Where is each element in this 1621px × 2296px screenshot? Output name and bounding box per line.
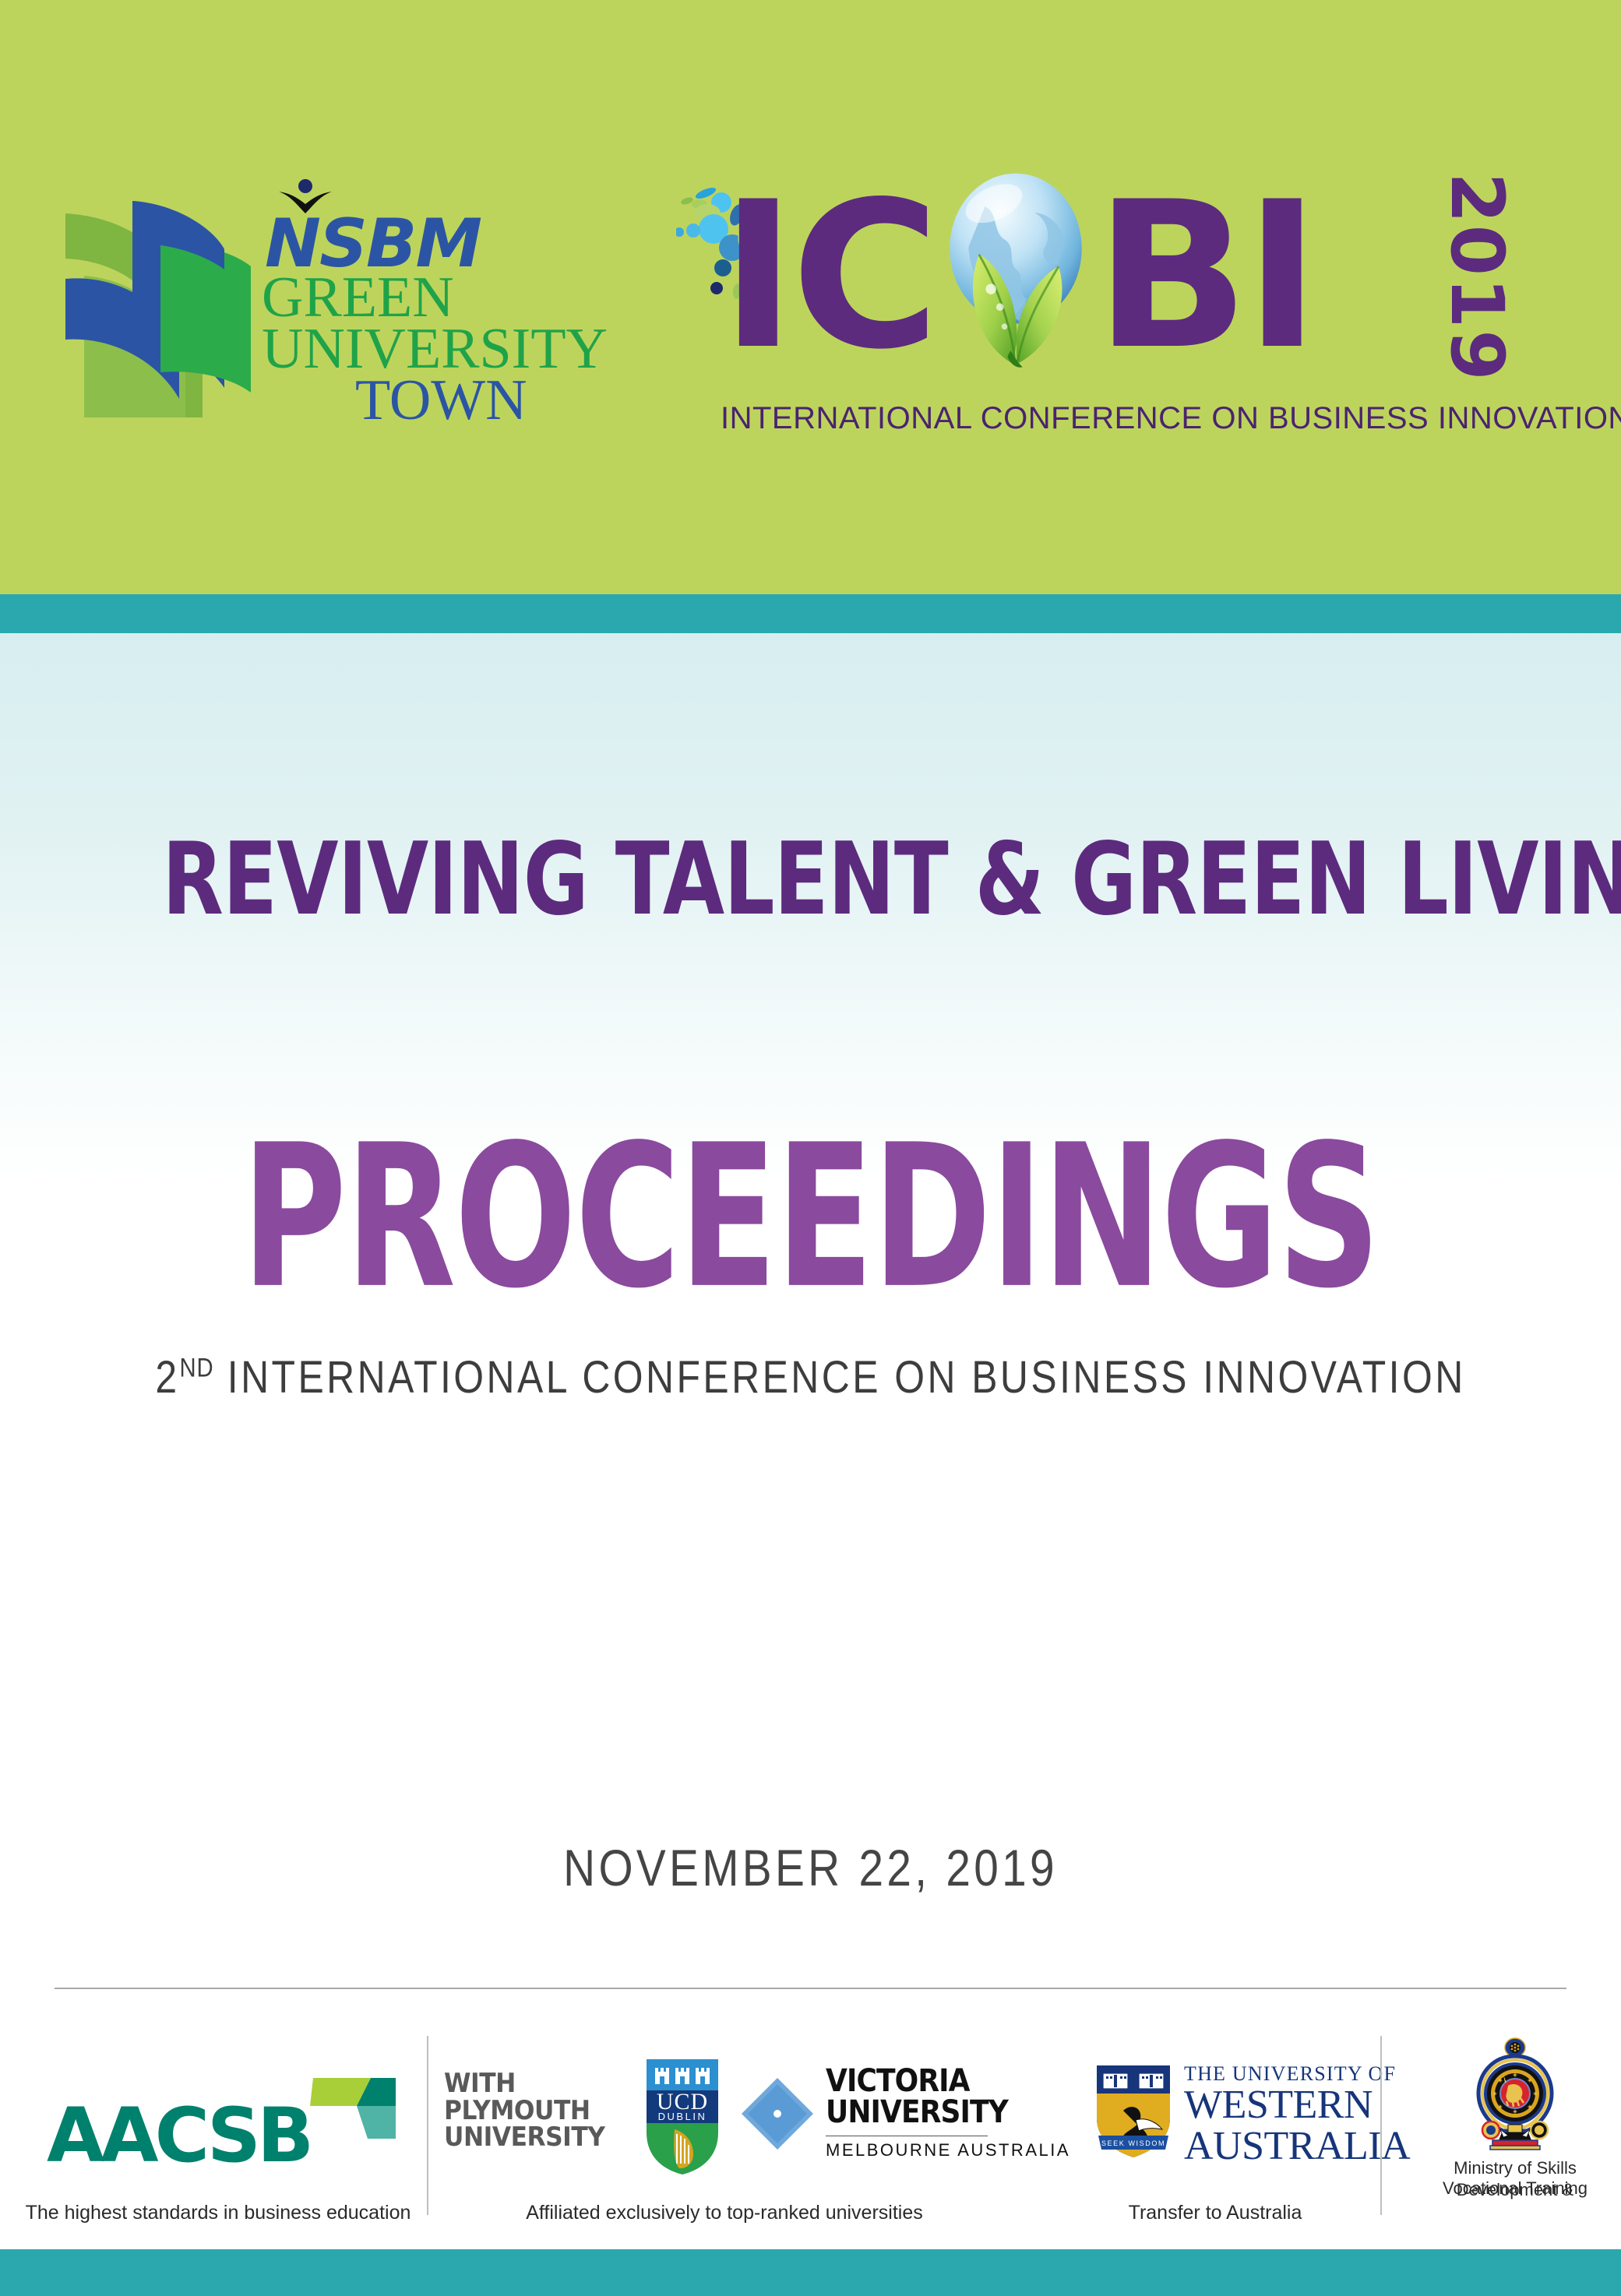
- icobi-letters-ic: IC: [721, 160, 936, 393]
- proceedings-cover: NSBM GREEN UNIVERSITY TOWN: [0, 0, 1621, 2296]
- victoria-rule: [826, 2136, 988, 2136]
- icobi-year-text: 2019: [1437, 164, 1515, 390]
- ministry-logo: ◈◈◈ ◈◈ ◈◈◈ Ministry of: [1425, 2037, 1605, 2224]
- footer-logo-row: AACSB The highest standards in business …: [0, 2025, 1621, 2243]
- svg-text:◈: ◈: [1513, 2109, 1517, 2115]
- victoria-line-1: VICTORIA: [826, 2065, 973, 2097]
- icobi-globe-leaf-icon: [936, 160, 1095, 362]
- plymouth-line-3: UNIVERSITY: [444, 2124, 623, 2151]
- uwa-wordmark: THE UNIVERSITY OF WESTERN AUSTRALIA: [1184, 2064, 1355, 2167]
- teal-divider-top: [0, 594, 1621, 633]
- nsbm-town-text: TOWN: [355, 374, 527, 428]
- uwa-line-2: WESTERN: [1184, 2084, 1355, 2125]
- victoria-line-2: UNIVERSITY: [826, 2097, 973, 2128]
- svg-text:◈: ◈: [1528, 2078, 1532, 2083]
- event-date: NOVEMBER 22, 2019: [114, 1838, 1508, 1897]
- victoria-university-logo: VICTORIA UNIVERSITY MELBOURNE AUSTRALIA: [740, 2065, 989, 2175]
- page-subtitle: 2ND INTERNATIONAL CONFERENCE ON BUSINESS…: [114, 1351, 1508, 1403]
- uwa-logo: SEEK WISDOM THE UNIVERSITY OF WESTERN AU…: [1091, 2061, 1348, 2178]
- uwa-caption: Transfer to Australia: [1075, 2201, 1355, 2225]
- icobi-wordmark: IC: [721, 160, 1414, 393]
- sri-lanka-emblem-icon: ◈◈◈ ◈◈ ◈◈◈: [1469, 2037, 1561, 2154]
- uwa-shield-icon: SEEK WISDOM: [1091, 2062, 1176, 2162]
- plymouth-line-1: WITH: [444, 2070, 623, 2097]
- nsbm-wordmark: NSBM GREEN UNIVERSITY TOWN: [255, 173, 676, 430]
- aacsb-wordmark: AACSB: [47, 2098, 310, 2173]
- icobi-logo: IC: [721, 160, 1570, 487]
- svg-text:◈: ◈: [1513, 2072, 1517, 2078]
- uwa-motto: SEEK WISDOM: [1101, 2139, 1165, 2147]
- svg-text:◈: ◈: [1492, 2091, 1497, 2097]
- icobi-letters-bi: BI: [1095, 160, 1316, 393]
- subtitle-ordinal-suffix: ND: [180, 1354, 214, 1383]
- footer-divider-1: [427, 2036, 428, 2215]
- subtitle-ordinal-number: 2: [155, 1352, 179, 1403]
- plymouth-university-logo: WITH PLYMOUTH UNIVERSITY: [444, 2070, 639, 2179]
- subtitle-rest: INTERNATIONAL CONFERENCE ON BUSINESS INN…: [227, 1352, 1466, 1403]
- victoria-sub: MELBOURNE AUSTRALIA: [826, 2140, 1070, 2160]
- affiliation-caption: Affiliated exclusively to top-ranked uni…: [436, 2201, 1013, 2225]
- nsbm-logo: NSBM GREEN UNIVERSITY TOWN: [61, 173, 676, 430]
- aacsb-caption: The highest standards in business educat…: [16, 2201, 421, 2225]
- ucd-dublin-shield-logo: UCD DUBLIN: [645, 2058, 720, 2176]
- icobi-tagline: INTERNATIONAL CONFERENCE ON BUSINESS INN…: [721, 401, 1546, 436]
- page-headline: REVIVING TALENT & GREEN LIVING: [162, 822, 1459, 938]
- uwa-line-1: THE UNIVERSITY OF: [1184, 2064, 1355, 2084]
- page-title: PROCEEDINGS: [162, 1104, 1459, 1333]
- footer-divider-rule: [55, 1988, 1566, 1989]
- aacsb-flag-icon: [310, 2065, 396, 2143]
- uwa-line-3: AUSTRALIA: [1184, 2125, 1355, 2167]
- aacsb-logo: AACSB: [47, 2058, 389, 2206]
- plymouth-line-2: PLYMOUTH: [444, 2097, 623, 2125]
- teal-divider-bottom: [0, 2249, 1621, 2296]
- nsbm-book-leaf-mark: [61, 184, 260, 417]
- victoria-diamond-icon: [740, 2076, 815, 2151]
- header-band: NSBM GREEN UNIVERSITY TOWN: [0, 0, 1621, 594]
- svg-text:DUBLIN: DUBLIN: [658, 2111, 707, 2122]
- icobi-year: 2019: [1437, 164, 1515, 390]
- svg-text:◈: ◈: [1528, 2104, 1532, 2110]
- svg-text:◈: ◈: [1498, 2078, 1503, 2083]
- ministry-caption-line-2: Vocational Training: [1410, 2178, 1620, 2199]
- svg-text:◈: ◈: [1498, 2104, 1503, 2110]
- victoria-wordmark: VICTORIA UNIVERSITY: [826, 2065, 989, 2128]
- svg-text:◈: ◈: [1533, 2091, 1538, 2097]
- footer-divider-3: [1380, 2036, 1382, 2215]
